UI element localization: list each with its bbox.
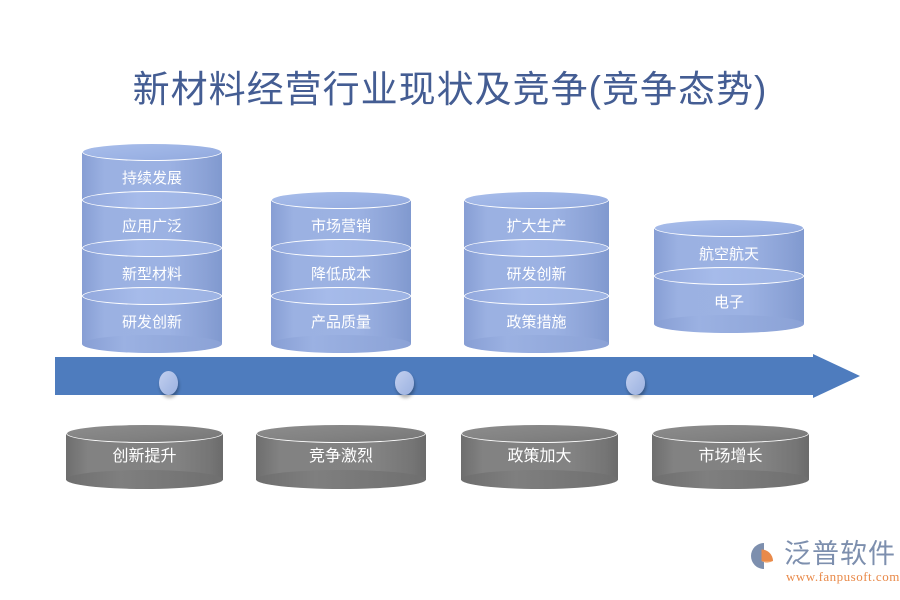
stack-2-label-2: 降低成本: [271, 265, 411, 285]
outcome-cylinder-3[interactable]: 政策加大: [461, 424, 618, 490]
cylinder-divider-cap: [82, 191, 222, 209]
cylinder-bottom-cap: [256, 470, 426, 489]
outcome-label-3: 政策加大: [461, 447, 618, 467]
cylinder-stack-3[interactable]: 扩大生产 研发创新 政策措施: [464, 200, 609, 345]
cylinder-top-cap: [461, 424, 618, 443]
outcome-cylinder-4[interactable]: 市场增长: [652, 424, 809, 490]
page-title: 新材料经营行业现状及竞争(竞争态势): [0, 66, 900, 114]
brand-logo-icon: [748, 540, 782, 572]
stack-1-label-2: 应用广泛: [82, 217, 222, 237]
brand-name: 泛普软件: [784, 538, 896, 570]
cylinder-bottom-cap: [652, 470, 809, 489]
cylinder-stack-1[interactable]: 持续发展 应用广泛 新型材料 研发创新: [82, 152, 222, 345]
brand-logo: 泛普软件 www.fanpusoft.com: [748, 538, 894, 590]
cylinder-bottom-cap: [82, 335, 222, 353]
arrow-head-icon: [813, 354, 860, 398]
stack-3-label-2: 研发创新: [464, 265, 609, 285]
cylinder-bottom-cap: [271, 335, 411, 353]
timeline-arrow: [55, 354, 860, 398]
timeline-node-2[interactable]: [395, 371, 414, 395]
stack-2-label-1: 市场营销: [271, 217, 411, 237]
outcome-label-1: 创新提升: [66, 447, 223, 467]
outcome-label-4: 市场增长: [652, 447, 809, 467]
cylinder-top-cap: [256, 424, 426, 443]
timeline-node-1[interactable]: [159, 371, 178, 395]
cylinder-bottom-cap: [464, 335, 609, 353]
outcome-cylinder-2[interactable]: 竞争激烈: [256, 424, 426, 490]
cylinder-bottom-cap: [66, 470, 223, 489]
cylinder-stack-4[interactable]: 航空航天 电子: [654, 228, 804, 325]
stack-4-label-1: 航空航天: [654, 245, 804, 265]
cylinder-divider-cap: [464, 287, 609, 305]
cylinder-divider-cap: [271, 239, 411, 257]
cylinder-top-cap: [82, 143, 222, 161]
cylinder-top-cap: [654, 219, 804, 237]
cylinder-stack-2[interactable]: 市场营销 降低成本 产品质量: [271, 200, 411, 345]
cylinder-divider-cap: [271, 287, 411, 305]
diagram-canvas: 新材料经营行业现状及竞争(竞争态势) 泛普软件 FANPU SOFTWARE 持…: [0, 0, 900, 600]
stack-1-label-1: 持续发展: [82, 169, 222, 189]
stack-3-label-1: 扩大生产: [464, 217, 609, 237]
stack-1-label-4: 研发创新: [82, 313, 222, 333]
cylinder-divider-cap: [654, 267, 804, 285]
outcome-label-2: 竞争激烈: [256, 447, 426, 467]
cylinder-divider-cap: [82, 239, 222, 257]
stack-4-label-2: 电子: [654, 293, 804, 313]
cylinder-divider-cap: [464, 239, 609, 257]
cylinder-divider-cap: [82, 287, 222, 305]
cylinder-top-cap: [464, 191, 609, 209]
cylinder-bottom-cap: [461, 470, 618, 489]
stack-2-label-3: 产品质量: [271, 313, 411, 333]
timeline-node-3[interactable]: [626, 371, 645, 395]
outcome-cylinder-1[interactable]: 创新提升: [66, 424, 223, 490]
cylinder-top-cap: [66, 424, 223, 443]
stack-1-label-3: 新型材料: [82, 265, 222, 285]
stack-3-label-3: 政策措施: [464, 313, 609, 333]
cylinder-top-cap: [271, 191, 411, 209]
cylinder-top-cap: [652, 424, 809, 443]
cylinder-bottom-cap: [654, 315, 804, 333]
brand-url: www.fanpusoft.com: [786, 569, 900, 585]
